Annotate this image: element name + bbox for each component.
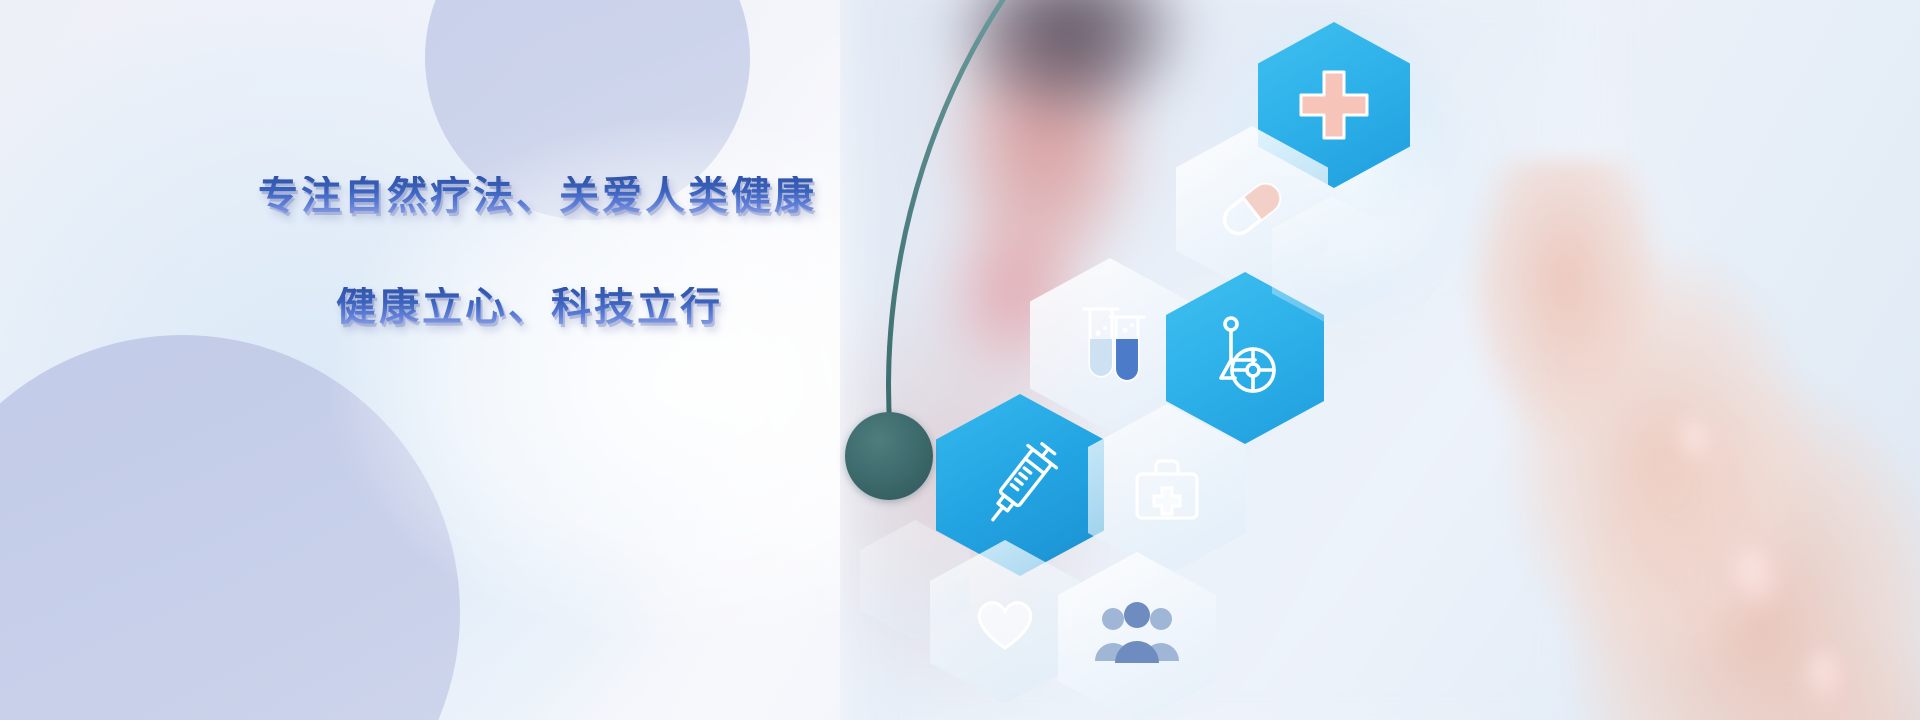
- fingernail: [1674, 413, 1724, 469]
- medical-kit-icon: [1125, 448, 1209, 532]
- medical-cross-icon: [1295, 66, 1373, 144]
- hero-banner: 专注自然疗法、关爱人类健康 健康立心、科技立行 医疗十字 药品胶囊: [0, 0, 1920, 720]
- people-group-icon: [1093, 599, 1181, 677]
- fingernail: [1803, 646, 1854, 709]
- wheelchair-icon: [1201, 314, 1289, 402]
- heart-pulse-icon: [965, 582, 1045, 662]
- fingernail: [1727, 539, 1790, 612]
- test-tubes-icon: [1068, 299, 1152, 391]
- teal-node-dot: [845, 412, 933, 500]
